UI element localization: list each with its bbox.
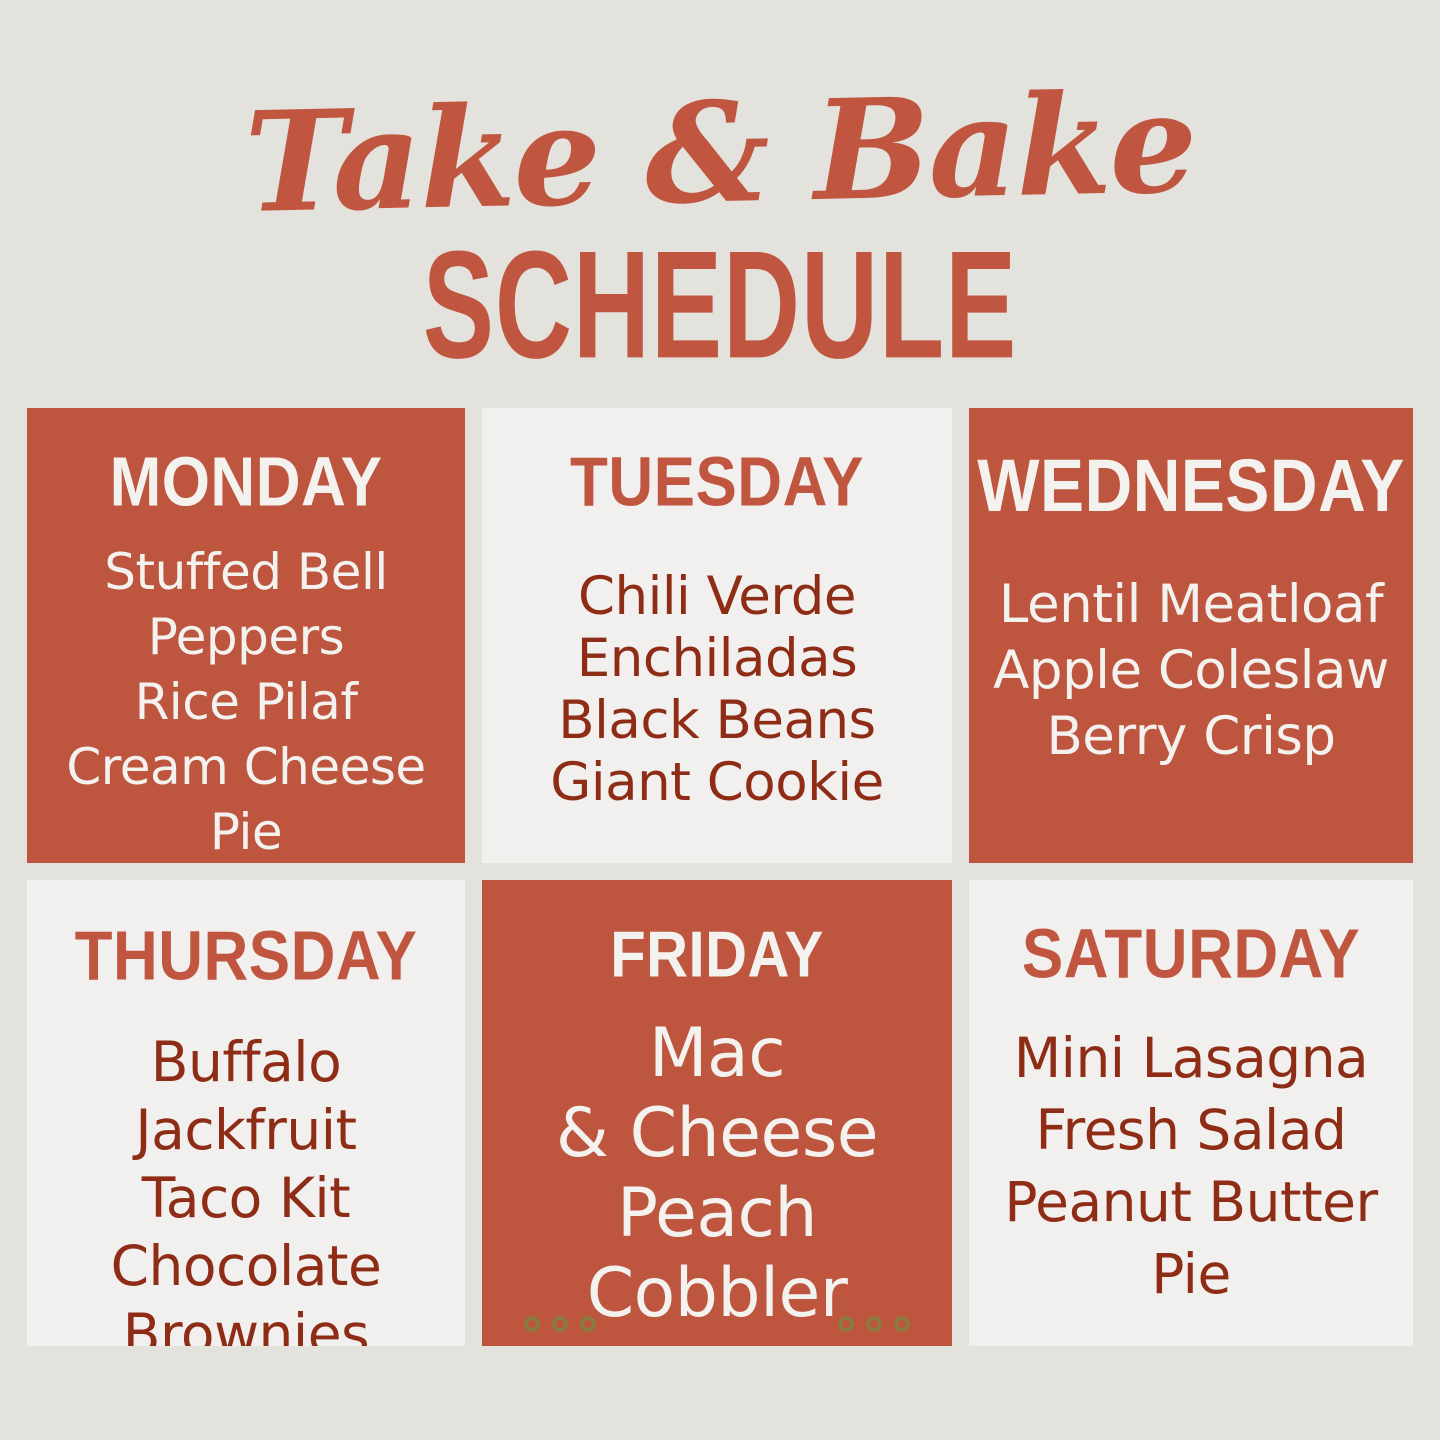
dish-item: Lentil Meatloaf <box>999 572 1383 638</box>
dish-item: Cobbler <box>587 1254 848 1334</box>
day-card-saturday: SATURDAY Mini Lasagna Fresh Salad Peanut… <box>969 880 1413 1346</box>
day-card-monday-dishes: Stuffed Bell Peppers Rice Pilaf Cream Ch… <box>66 540 425 863</box>
dish-item: Enchiladas <box>577 628 857 690</box>
day-card-tuesday: TUESDAY Chili Verde Enchiladas Black Bea… <box>482 408 952 863</box>
ring-icon <box>524 1316 540 1332</box>
day-card-saturday-title: SATURDAY <box>1022 920 1360 989</box>
dish-item: Jackfruit <box>135 1096 356 1164</box>
decorative-rings-left <box>524 1316 596 1332</box>
dish-item: Peppers <box>148 605 344 670</box>
day-card-thursday: THURSDAY Buffalo Jackfruit Taco Kit Choc… <box>27 880 465 1346</box>
day-card-monday-title: MONDAY <box>110 448 383 517</box>
dish-item: Fresh Salad <box>1036 1094 1347 1166</box>
day-card-thursday-dishes: Buffalo Jackfruit Taco Kit Chocolate Bro… <box>111 1028 382 1346</box>
dish-item: Stuffed Bell <box>104 540 387 605</box>
dish-item: Apple Coleslaw <box>993 638 1389 704</box>
day-card-wednesday-title: WEDNESDAY <box>977 448 1404 522</box>
dish-item: Buffalo <box>151 1028 341 1096</box>
ring-icon <box>866 1316 882 1332</box>
dish-item: Chocolate <box>111 1232 382 1300</box>
dish-item: Black Beans <box>558 690 875 752</box>
dish-item: Chili Verde <box>578 566 856 628</box>
schedule-grid: MONDAY Stuffed Bell Peppers Rice Pilaf C… <box>27 408 1413 1346</box>
day-card-friday-title: FRIDAY <box>610 923 824 988</box>
day-card-monday: MONDAY Stuffed Bell Peppers Rice Pilaf C… <box>27 408 465 863</box>
dish-item: Mini Lasagna <box>1014 1022 1369 1094</box>
dish-item: & Cheese <box>556 1094 878 1174</box>
ring-icon <box>838 1316 854 1332</box>
day-card-saturday-dishes: Mini Lasagna Fresh Salad Peanut Butter P… <box>1004 1022 1377 1310</box>
dish-item: Rice Pilaf <box>135 670 358 735</box>
ring-icon <box>552 1316 568 1332</box>
day-card-tuesday-dishes: Chili Verde Enchiladas Black Beans Giant… <box>550 566 883 814</box>
dish-item: Pie <box>210 800 282 863</box>
dish-item: Taco Kit <box>142 1164 350 1232</box>
day-card-wednesday: WEDNESDAY Lentil Meatloaf Apple Coleslaw… <box>969 408 1413 863</box>
page-header: Take & Bake SCHEDULE <box>0 0 1440 400</box>
dish-item: Peach <box>617 1174 817 1254</box>
day-card-thursday-title: THURSDAY <box>75 922 418 991</box>
dish-item: Mac <box>649 1014 785 1094</box>
dish-item: Giant Cookie <box>550 752 883 814</box>
day-card-tuesday-title: TUESDAY <box>570 448 864 517</box>
dish-item: Berry Crisp <box>1046 704 1335 770</box>
ring-icon <box>894 1316 910 1332</box>
day-card-wednesday-dishes: Lentil Meatloaf Apple Coleslaw Berry Cri… <box>993 572 1389 770</box>
decorative-rings-right <box>838 1316 910 1332</box>
page-title-script: Take & Bake <box>0 69 1440 237</box>
dish-item: Brownies <box>123 1300 369 1346</box>
day-card-friday-dishes: Mac & Cheese Peach Cobbler <box>556 1014 878 1334</box>
dish-item: Peanut Butter <box>1004 1166 1377 1238</box>
dish-item: Pie <box>1151 1238 1231 1310</box>
day-card-friday: FRIDAY Mac & Cheese Peach Cobbler <box>482 880 952 1346</box>
page-title-block: SCHEDULE <box>58 228 1383 381</box>
dish-item: Cream Cheese <box>66 735 425 800</box>
ring-icon <box>580 1316 596 1332</box>
